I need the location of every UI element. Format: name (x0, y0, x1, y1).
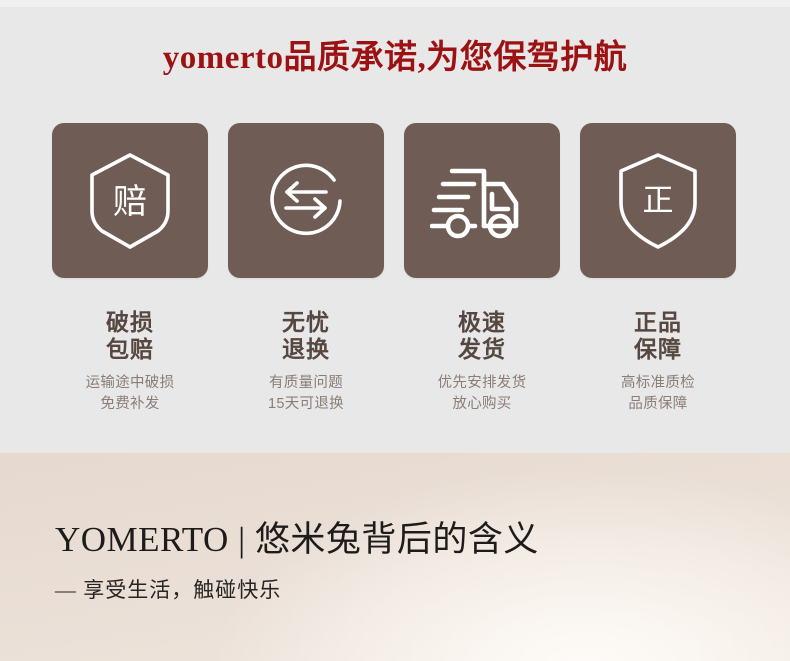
feature-caption-worry-free-return: 无忧 退换 有质量问题 15天可退换 (228, 309, 384, 415)
feature-caption-damage-compensation: 破损 包赔 运输途中破损 免费补发 (52, 309, 208, 415)
caption-subtext-line1: 有质量问题 (228, 373, 384, 394)
caption-subtext: 运输途中破损 免费补发 (52, 373, 208, 415)
caption-heading-line1: 正品 (580, 309, 736, 336)
shield-hex-compensate-icon: 赔 (80, 149, 180, 253)
caption-subtext: 优先安排发货 放心购买 (404, 373, 560, 415)
caption-subtext-line2: 放心购买 (404, 394, 560, 415)
caption-heading-line1: 破损 (52, 309, 208, 336)
feature-captions-row: 破损 包赔 运输途中破损 免费补发 无忧 退换 有质量问题 15天可退换 (52, 309, 736, 415)
brand-story-section: YOMERTO | 悠米兔背后的含义 — 享受生活，触碰快乐 (0, 453, 790, 661)
feature-card-authentic-guarantee[interactable]: 正 (580, 123, 736, 278)
caption-heading-line1: 极速 (404, 309, 560, 336)
service-promise-section: yomerto品质承诺,为您保驾护航 赔 (0, 0, 790, 453)
feature-cards-row: 赔 (52, 123, 736, 278)
top-edge-strip (0, 0, 790, 7)
caption-heading-line1: 无忧 (228, 309, 384, 336)
feature-card-fast-shipping[interactable] (404, 123, 560, 278)
shield-authentic-icon: 正 (608, 149, 708, 253)
caption-heading-line2: 保障 (580, 336, 736, 363)
feature-card-worry-free-return[interactable] (228, 123, 384, 278)
caption-heading: 正品 保障 (580, 309, 736, 363)
caption-subtext-line2: 免费补发 (52, 394, 208, 415)
svg-text:正: 正 (643, 183, 674, 218)
exchange-circle-icon (256, 151, 356, 251)
feature-card-damage-compensation[interactable]: 赔 (52, 123, 208, 278)
caption-subtext: 高标准质检 品质保障 (580, 373, 736, 415)
svg-text:赔: 赔 (113, 183, 147, 221)
caption-subtext-line2: 15天可退换 (228, 394, 384, 415)
caption-heading-line2: 包赔 (52, 336, 208, 363)
brand-story-headline: YOMERTO | 悠米兔背后的含义 (55, 511, 539, 562)
caption-heading: 极速 发货 (404, 309, 560, 363)
caption-subtext-line1: 高标准质检 (580, 373, 736, 394)
product-detail-page: yomerto品质承诺,为您保驾护航 赔 (0, 0, 790, 661)
promise-title: yomerto品质承诺,为您保驾护航 (0, 30, 790, 78)
fast-delivery-truck-icon (430, 158, 534, 244)
caption-heading: 无忧 退换 (228, 309, 384, 363)
feature-caption-authentic-guarantee: 正品 保障 高标准质检 品质保障 (580, 309, 736, 415)
caption-subtext-line1: 优先安排发货 (404, 373, 560, 394)
caption-subtext-line1: 运输途中破损 (52, 373, 208, 394)
caption-heading-line2: 发货 (404, 336, 560, 363)
caption-subtext: 有质量问题 15天可退换 (228, 373, 384, 415)
brand-story-subline: — 享受生活，触碰快乐 (55, 574, 281, 604)
caption-heading: 破损 包赔 (52, 309, 208, 363)
caption-subtext-line2: 品质保障 (580, 394, 736, 415)
caption-heading-line2: 退换 (228, 336, 384, 363)
feature-caption-fast-shipping: 极速 发货 优先安排发货 放心购买 (404, 309, 560, 415)
